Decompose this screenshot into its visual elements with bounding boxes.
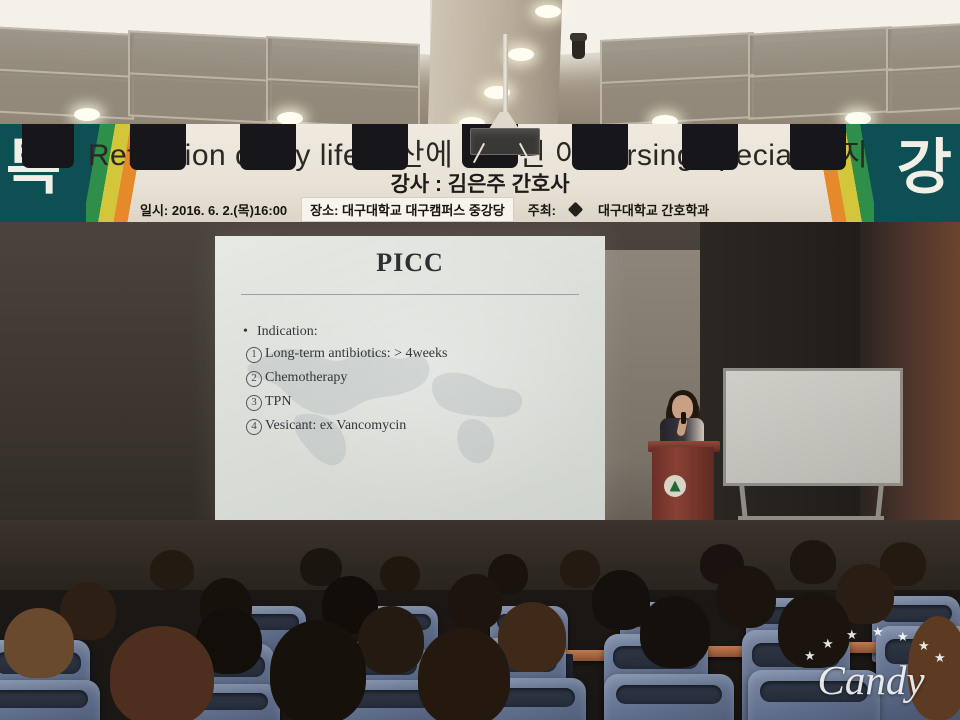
watermark-text: Candy xyxy=(796,656,946,704)
ceiling-speaker xyxy=(572,124,628,170)
ceiling-speaker xyxy=(240,124,296,170)
watermark-stars-icon: ★ ★ ★ ★ ★ ★ ★ xyxy=(796,622,946,656)
ceiling-speaker xyxy=(790,124,846,170)
downlight xyxy=(535,5,561,18)
banner-info-row: 일시: 2016. 6. 2.(목)16:00 장소: 대구대학교 대구캠퍼스 … xyxy=(140,198,840,220)
banner-date: 일시: 2016. 6. 2.(목)16:00 xyxy=(140,200,287,219)
photo-watermark: ★ ★ ★ ★ ★ ★ ★ Candy xyxy=(796,620,946,712)
slide-item: 2Chemotherapy xyxy=(243,370,583,387)
audience-head xyxy=(716,566,776,628)
ceiling-panel xyxy=(0,68,134,120)
audience-head xyxy=(498,602,566,672)
slide-item-text: Vesicant: ex Vancomycin xyxy=(265,418,406,433)
ceiling-panel xyxy=(748,68,892,120)
ceiling-speaker xyxy=(352,124,408,170)
university-emblem-icon xyxy=(568,202,584,218)
audience-head xyxy=(4,608,74,678)
seat xyxy=(0,680,100,720)
ceiling-panel xyxy=(886,63,960,113)
slide-item: 1Long-term antibiotics: > 4weeks xyxy=(243,346,583,363)
slide-lead-line: •Indication: xyxy=(243,324,583,340)
auditorium-lecture-photo: 특 강 Reflection of my life 군산에 필리핀 아 nurs… xyxy=(0,0,960,720)
podium-emblem-icon xyxy=(664,475,686,497)
banner-host-name: 대구대학교 간호학과 xyxy=(598,200,709,219)
audience-head xyxy=(640,596,710,668)
slide-item: 3TPN xyxy=(243,394,583,411)
audience-head xyxy=(560,550,600,588)
ceiling-speaker xyxy=(682,124,738,170)
audience-head xyxy=(270,620,366,720)
ceiling-beam xyxy=(428,0,563,132)
downlight xyxy=(74,108,100,121)
bullet-icon: • xyxy=(243,324,257,340)
slide-item-text: TPN xyxy=(265,394,291,409)
projection-screen: PICC •Indication: 1Long-term antibiotics… xyxy=(215,236,605,533)
audience-head xyxy=(418,628,510,720)
slide-item-number: 4 xyxy=(243,419,265,435)
slide-item-number: 1 xyxy=(243,347,265,363)
audience-head xyxy=(358,606,424,674)
slide-item-text: Chemotherapy xyxy=(265,370,347,385)
audience-head xyxy=(150,550,194,590)
security-camera-icon xyxy=(572,38,585,59)
downlight xyxy=(508,48,534,61)
audience-head xyxy=(110,626,214,720)
microphone-icon xyxy=(681,412,686,424)
banner-speaker-line: 강사 : 김은주 간호사 xyxy=(150,168,810,198)
audience-head xyxy=(790,540,836,584)
slide-item-number: 2 xyxy=(243,371,265,387)
slide-body: •Indication: 1Long-term antibiotics: > 4… xyxy=(243,324,583,442)
ceiling-speaker xyxy=(130,124,186,170)
slide-item-number: 3 xyxy=(243,395,265,411)
slide-title: PICC xyxy=(215,248,605,278)
ceiling xyxy=(0,0,960,132)
whiteboard xyxy=(723,368,903,486)
banner-place: 장소: 대구대학교 대구캠퍼스 중강당 xyxy=(301,197,514,222)
audience-head xyxy=(448,574,502,630)
audience-head xyxy=(380,556,420,592)
slide-item: 4Vesicant: ex Vancomycin xyxy=(243,418,583,435)
slide-divider xyxy=(241,294,579,295)
ceiling-speaker xyxy=(22,124,74,168)
seat xyxy=(604,674,734,720)
slide-item-text: Long-term antibiotics: > 4weeks xyxy=(265,346,447,361)
banner-host-label: 주최: xyxy=(528,200,556,219)
slide-lead-text: Indication: xyxy=(257,324,318,339)
banner-char-right: 강 xyxy=(897,138,952,198)
ceiling-panel xyxy=(128,72,272,124)
